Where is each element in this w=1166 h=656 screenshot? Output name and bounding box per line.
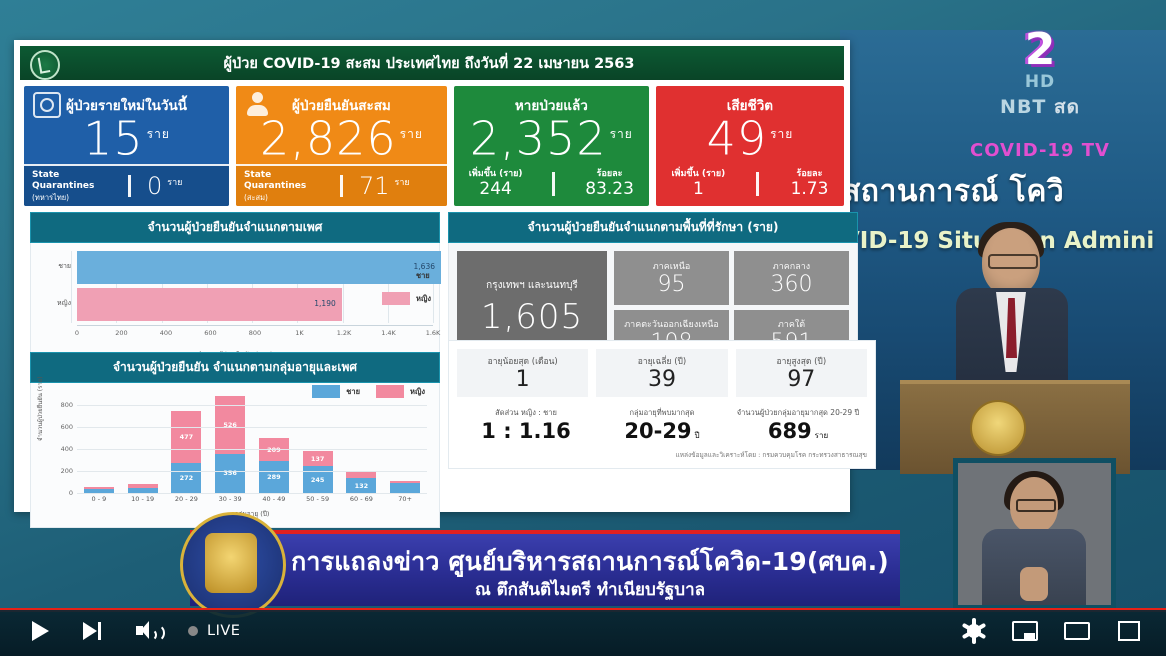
channel-hd-label: HD: [985, 72, 1095, 92]
age-max: อายุสูงสุด (ปี) 97: [736, 349, 867, 397]
card-deaths-value: 49ราย: [656, 110, 844, 162]
card-confirmed-top: ผู้ป่วยยืนยันสะสม 2,826ราย: [236, 86, 447, 164]
divider: [340, 175, 343, 197]
top-age-group-count-number: 689: [768, 419, 812, 443]
divider: [756, 172, 759, 196]
deaths-percent-value: 1.73: [791, 180, 829, 199]
chart-bar-category: หญิง: [37, 298, 71, 309]
chart-bar-segment: 289: [259, 461, 289, 493]
panel-by-sex-body: ชาย1,636หญิง1,190 02004006008001K1.2K1.4…: [30, 243, 440, 364]
top-age-group-label: กลุ่มอายุที่พบมากสุด: [599, 407, 725, 419]
card-deaths-unit: ราย: [770, 127, 793, 141]
podium-emblem: [970, 400, 1026, 456]
channel-logo: 2 HD NBT สด: [985, 28, 1095, 122]
age-avg-value: 39: [648, 368, 676, 392]
banner-line-2: ณ ตึกสันติไมตรี ทำเนียบรัฐบาล: [290, 576, 890, 603]
chart-bar-segment: 132: [346, 478, 376, 493]
quarantine-value-new: 0ราย: [147, 172, 182, 200]
government-seal-icon: [180, 512, 286, 618]
chart-stacked-bar: [128, 484, 158, 493]
chart-stacked-bar: 526356: [215, 396, 245, 493]
age-min-value: 1: [516, 368, 530, 392]
chart-by-age-legend: ชายหญิง: [312, 385, 425, 398]
chart-segment-value: 245: [303, 476, 333, 484]
chart-by-sex: ชาย1,636หญิง1,190 02004006008001K1.2K1.4…: [31, 243, 439, 363]
quarantine-title-new: State Quarantines: [32, 170, 94, 191]
live-indicator[interactable]: LIVE: [188, 623, 240, 639]
chart-bar-row: หญิง1,190: [77, 288, 433, 321]
panel-by-age-body: ชายหญิง จำนวนผู้ป่วยยืนยัน (ราย) 4772725…: [30, 383, 440, 528]
video-player: สถานการณ์ โควิ VID-19 Situation Admini 2…: [0, 0, 1166, 656]
age-stats-row: อายุน้อยสุด (เดือน) 1 อายุเฉลี่ย (ปี) 39…: [457, 349, 867, 397]
top-age-group-count: จำนวนผู้ป่วยกลุ่มอายุมากสุด 20-29 ปี 689…: [735, 407, 861, 443]
channel-name-text: NBT: [1000, 96, 1046, 118]
chart-bar-segment: [346, 472, 376, 479]
chart-stacked-bar: [390, 481, 420, 493]
chart-stacked-bar: 137245: [303, 451, 333, 493]
chart-ytick: 200: [61, 467, 73, 475]
region-north-label: ภาคเหนือ: [653, 259, 691, 273]
top-age-group: กลุ่มอายุที่พบมากสุด 20-29ปี: [599, 407, 725, 443]
divider: [552, 172, 555, 196]
card-confirmed-unit: ราย: [400, 127, 423, 141]
region-central-value: 360: [771, 273, 813, 297]
backdrop-title-thai: สถานการณ์ โควิ: [842, 168, 1166, 215]
region-bangkok-value: 1,605: [481, 297, 583, 337]
chart-by-sex-legend: ชายหญิง: [382, 269, 431, 315]
chart-xtick: 1.4K: [381, 329, 396, 337]
age-min-label: อายุน้อยสุด (เดือน): [488, 354, 558, 368]
chart-gridline: [77, 405, 427, 406]
sex-ratio-label: สัดส่วน หญิง : ชาย: [463, 407, 589, 419]
deaths-percent: ร้อยละ 1.73: [791, 169, 829, 199]
chart-stacked-bar: 209289: [259, 438, 289, 493]
fullscreen-icon[interactable]: [1116, 618, 1142, 644]
chart-gridline: [77, 427, 427, 428]
chart-ytick: 400: [61, 445, 73, 453]
sign-language-inset: [953, 458, 1116, 610]
panel-by-age-title: จำนวนผู้ป่วยยืนยัน จำแนกตามกลุ่มอายุและเ…: [30, 352, 440, 383]
card-new-cases-unit: ราย: [147, 127, 170, 141]
quarantine-unit-confirmed: ราย: [395, 178, 410, 188]
card-confirmed-quarantine: State Quarantines (สะสม) 71ราย: [236, 164, 447, 206]
panel-age-stats: อายุน้อยสุด (เดือน) 1 อายุเฉลี่ย (ปี) 39…: [448, 340, 876, 469]
chart-bar-segment: 477: [171, 411, 201, 463]
chart-segment-value: 272: [171, 474, 201, 482]
chart-by-age: ชายหญิง จำนวนผู้ป่วยยืนยัน (ราย) 4772725…: [31, 383, 439, 527]
chart-by-age-ylabel: จำนวนผู้ป่วยยืนยัน (ราย): [35, 376, 45, 441]
recovered-increase: เพิ่มขึ้น (ราย) 244: [469, 169, 523, 199]
chart-bar-segment: [390, 483, 420, 493]
age-avg-label: อายุเฉลี่ย (ปี): [638, 354, 686, 368]
card-recovered-stats: เพิ่มขึ้น (ราย) 244 ร้อยละ 83.23: [454, 164, 649, 204]
quarantine-number-new: 0: [147, 172, 162, 200]
broadcast-banner: การแถลงข่าว ศูนย์บริหารสถานการณ์โควิด-19…: [190, 530, 900, 606]
play-icon[interactable]: [26, 618, 52, 644]
card-recovered: หายป่วยแล้ว 2,352ราย เพิ่มขึ้น (ราย) 244…: [454, 86, 649, 206]
video-stage[interactable]: สถานการณ์ โควิ VID-19 Situation Admini 2…: [0, 0, 1166, 610]
chart-xtick: 0 - 9: [84, 495, 114, 503]
summary-cards: ผู้ป่วยรายใหม่ในวันนี้ 15ราย State Quara…: [24, 86, 844, 206]
chart-gridline: [77, 471, 427, 472]
region-north: ภาคเหนือ 95: [614, 251, 729, 305]
chart-ytick: 600: [61, 423, 73, 431]
miniplayer-icon[interactable]: [1012, 618, 1038, 644]
chart-xtick: 60 - 69: [346, 495, 376, 503]
interpreter-glasses: [1016, 499, 1056, 512]
controls-right: [962, 618, 1142, 644]
legend-label: หญิง: [410, 386, 425, 398]
card-new-cases: ผู้ป่วยรายใหม่ในวันนี้ 15ราย State Quara…: [24, 86, 229, 206]
chart-xtick: 800: [249, 329, 261, 337]
top-age-group-count-label: จำนวนผู้ป่วยกลุ่มอายุมากสุด 20-29 ปี: [735, 407, 861, 419]
live-label: LIVE: [207, 623, 240, 639]
top-age-group-unit: ปี: [695, 431, 700, 440]
ratio-stats-row: สัดส่วน หญิง : ชาย 1 : 1.16 กลุ่มอายุที่…: [457, 407, 867, 443]
age-max-value: 97: [787, 368, 815, 392]
sex-ratio: สัดส่วน หญิง : ชาย 1 : 1.16: [463, 407, 589, 443]
legend-label: หญิง: [416, 293, 431, 305]
interpreter-video: [958, 463, 1111, 605]
channel-live-thai: สด: [1054, 96, 1080, 118]
chart-by-sex-xaxis: 02004006008001K1.2K1.4K1.6K: [77, 325, 433, 348]
divider: [128, 175, 131, 197]
quarantine-sub-new: (ทหารไทย): [32, 192, 124, 203]
theater-icon[interactable]: [1064, 618, 1090, 644]
chart-xtick: 70+: [390, 495, 420, 503]
data-source: แหล่งข้อมูลและวิเคราะห์โดย : กรมควบคุมโร…: [457, 450, 867, 460]
chart-bar-segment: 356: [215, 454, 245, 493]
chart-segment-value: 132: [346, 482, 376, 490]
volume-icon[interactable]: [134, 618, 160, 644]
quarantine-sub-confirmed: (สะสม): [244, 192, 336, 203]
recovered-percent: ร้อยละ 83.23: [585, 169, 634, 199]
chart-segment-value: 289: [259, 473, 289, 481]
interpreter-hands: [1020, 567, 1048, 601]
top-age-group-value: 20-29ปี: [599, 419, 725, 443]
top-age-group-number: 20-29: [624, 419, 691, 443]
channel-number: 2: [985, 28, 1095, 72]
chart-bar-value: 1,190: [314, 299, 335, 308]
chart-bar-segment: 272: [171, 463, 201, 493]
legend-label: ชาย: [346, 386, 360, 398]
card-deaths: เสียชีวิต 49ราย เพิ่มขึ้น (ราย) 1 ร้อยละ: [656, 86, 844, 206]
card-recovered-value: 2,352ราย: [454, 110, 649, 162]
chart-xtick: 400: [160, 329, 172, 337]
gear-icon[interactable]: [962, 619, 986, 643]
live-dot-icon: [188, 626, 198, 636]
card-confirmed-number: 2,826: [260, 111, 397, 165]
quarantine-unit-new: ราย: [167, 178, 182, 188]
chart-xtick: 1.2K: [337, 329, 352, 337]
region-north-value: 95: [658, 273, 686, 297]
chart-segment-value: 137: [303, 455, 333, 463]
chart-xtick: 50 - 59: [303, 495, 333, 503]
quarantine-value-confirmed: 71ราย: [359, 172, 410, 200]
region-south-label: ภาคใต้: [778, 317, 805, 331]
region-central-label: ภาคกลาง: [773, 259, 810, 273]
dashboard-title: ผู้ป่วย COVID-19 สะสม ประเทศไทย ถึงวันที…: [20, 52, 844, 75]
card-confirmed-total: ผู้ป่วยยืนยันสะสม 2,826ราย State Quarant…: [236, 86, 447, 206]
chart-xtick: 0: [75, 329, 79, 337]
panel-by-sex-title: จำนวนผู้ป่วยยืนยันจำแนกตามเพศ: [30, 212, 440, 243]
quarantine-label-confirmed: State Quarantines (สะสม): [236, 170, 336, 203]
legend-item: ชาย: [312, 385, 360, 398]
dashboard-header: ผู้ป่วย COVID-19 สะสม ประเทศไทย ถึงวันที…: [20, 46, 844, 80]
chart-by-age-xaxis: 0 - 910 - 1920 - 2930 - 3940 - 4950 - 59…: [77, 495, 427, 503]
chart-bar-fill: 1,190: [77, 288, 342, 321]
legend-item: หญิง: [376, 385, 425, 398]
legend-swatch: [382, 292, 410, 305]
deaths-increase: เพิ่มขึ้น (ราย) 1: [671, 169, 725, 199]
top-age-group-count-value: 689ราย: [735, 419, 861, 443]
covid-tv-label: COVID-19 TV: [960, 140, 1120, 161]
legend-label: ชาย: [416, 270, 430, 282]
age-min: อายุน้อยสุด (เดือน) 1: [457, 349, 588, 397]
region-central: ภาคกลาง 360: [734, 251, 849, 305]
card-recovered-unit: ราย: [610, 127, 633, 141]
card-new-cases-value: 15ราย: [24, 110, 229, 162]
chart-xtick: 200: [115, 329, 127, 337]
legend-swatch: [376, 385, 404, 398]
chart-xtick: 30 - 39: [215, 495, 245, 503]
chart-gridline: [71, 251, 72, 323]
speaker-glasses: [988, 254, 1038, 269]
age-max-label: อายุสูงสุด (ปี): [777, 354, 827, 368]
region-bangkok-label: กรุงเทพฯ และนนทบุรี: [486, 278, 578, 293]
chart-xtick: 20 - 29: [171, 495, 201, 503]
panel-by-region-title: จำนวนผู้ป่วยยืนยันจำแนกตามพื้นที่ที่รักษ…: [448, 212, 858, 243]
chart-segment-value: 477: [171, 433, 201, 441]
controls-left: LIVE: [26, 618, 240, 644]
chart-stacked-bar: 477272: [171, 411, 201, 493]
legend-item: ชาย: [382, 269, 431, 282]
next-icon[interactable]: [80, 618, 106, 644]
region-northeast-label: ภาคตะวันออกเฉียงเหนือ: [624, 317, 719, 331]
chart-xtick: 1K: [295, 329, 303, 337]
card-recovered-number: 2,352: [470, 111, 607, 165]
card-recovered-top: หายป่วยแล้ว 2,352ราย: [454, 86, 649, 164]
chart-xtick: 10 - 19: [128, 495, 158, 503]
legend-swatch: [312, 385, 340, 398]
chart-by-age-plot: 477272526356209289137245132 020040060080…: [77, 405, 427, 493]
quarantine-label-new: State Quarantines (ทหารไทย): [24, 170, 124, 203]
chart-gridline: [77, 493, 427, 494]
chart-bar-category: ชาย: [37, 261, 71, 272]
chart-stacked-bar: 132: [346, 472, 376, 493]
ministry-emblem-icon: [30, 50, 60, 80]
recovered-increase-value: 244: [469, 180, 523, 199]
card-deaths-top: เสียชีวิต 49ราย: [656, 86, 844, 164]
legend-item: หญิง: [382, 292, 431, 305]
chart-bar-row: ชาย1,636: [77, 251, 433, 284]
gear-core: [967, 624, 981, 638]
card-new-cases-quarantine: State Quarantines (ทหารไทย) 0ราย: [24, 164, 229, 206]
chart-ytick: 800: [61, 401, 73, 409]
covid-dashboard: ผู้ป่วย COVID-19 สะสม ประเทศไทย ถึงวันที…: [14, 40, 850, 512]
deaths-increase-value: 1: [671, 180, 725, 199]
top-age-group-count-unit: ราย: [815, 431, 828, 440]
age-avg: อายุเฉลี่ย (ปี) 39: [596, 349, 727, 397]
legend-swatch: [382, 269, 410, 282]
card-deaths-stats: เพิ่มขึ้น (ราย) 1 ร้อยละ 1.73: [656, 164, 844, 204]
chart-bar-segment: 137: [303, 451, 333, 466]
sex-ratio-value: 1 : 1.16: [463, 419, 589, 443]
quarantine-number-confirmed: 71: [359, 172, 390, 200]
panel-by-age: จำนวนผู้ป่วยยืนยัน จำแนกตามกลุ่มอายุและเ…: [30, 352, 440, 528]
chart-xtick: 1.6K: [426, 329, 441, 337]
card-new-cases-number: 15: [83, 111, 144, 165]
recovered-percent-value: 83.23: [585, 180, 634, 199]
panel-by-sex: จำนวนผู้ป่วยยืนยันจำแนกตามเพศ ชาย1,636หญ…: [30, 212, 440, 364]
channel-name: NBT สด: [985, 92, 1095, 122]
chart-gridline: [77, 449, 427, 450]
quarantine-title-confirmed: State Quarantines: [244, 170, 306, 191]
chart-xtick: 600: [204, 329, 216, 337]
card-new-cases-top: ผู้ป่วยรายใหม่ในวันนี้ 15ราย: [24, 86, 229, 164]
card-deaths-number: 49: [707, 111, 768, 165]
chart-ytick: 0: [69, 489, 73, 497]
chart-xtick: 40 - 49: [259, 495, 289, 503]
card-confirmed-value: 2,826ราย: [236, 110, 447, 162]
